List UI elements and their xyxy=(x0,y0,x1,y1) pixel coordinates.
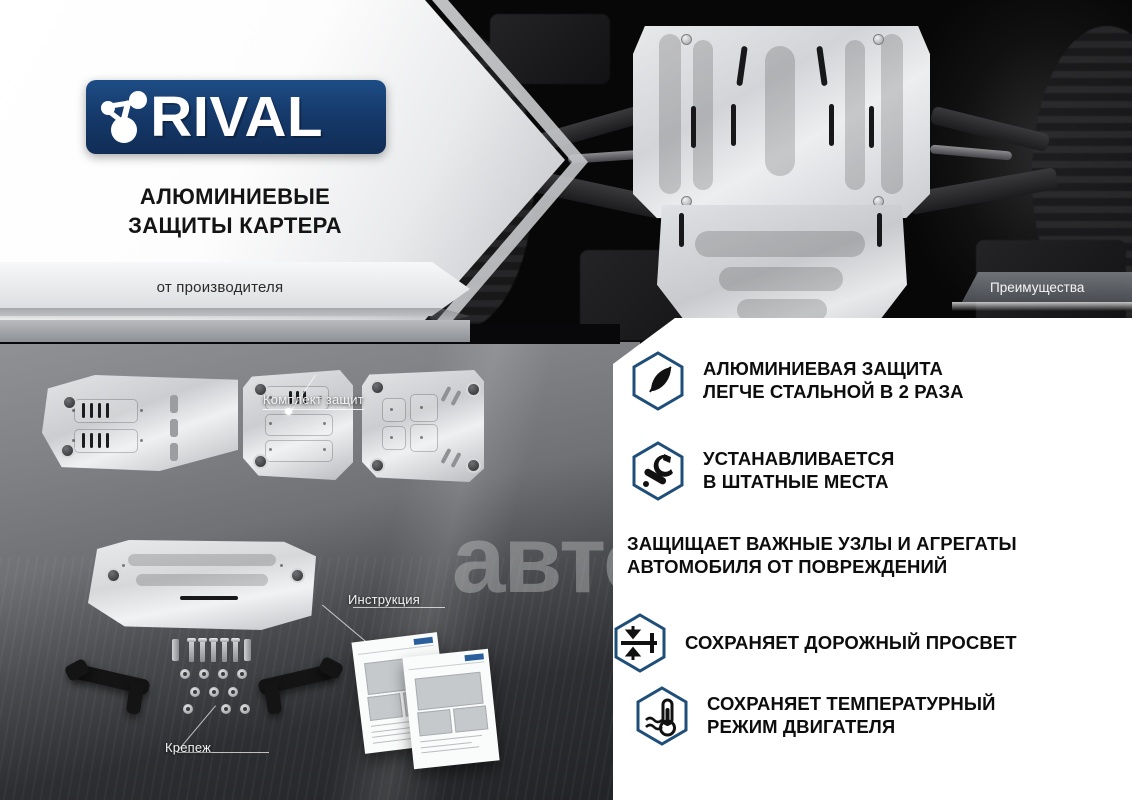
callout-instruction: Инструкция xyxy=(348,592,420,607)
nut xyxy=(190,687,200,697)
bolt xyxy=(200,638,205,662)
thermometer-icon xyxy=(635,686,689,746)
bolt xyxy=(233,638,238,662)
rival-logo-text: RIVAL xyxy=(150,89,323,146)
product-photo xyxy=(0,342,640,800)
callout-underline-instruction xyxy=(353,607,445,608)
advantage-text-2: УСТАНАВЛИВАЕТСЯ В ШТАТНЫЕ МЕСТА xyxy=(703,448,894,493)
bolt xyxy=(189,638,194,662)
washer xyxy=(218,669,228,679)
nut xyxy=(228,687,238,697)
skid-plate-4 xyxy=(88,540,316,630)
tab-advantages[interactable]: Преимущества xyxy=(962,272,1132,302)
nut xyxy=(221,704,231,714)
skid-plate-2 xyxy=(243,370,353,480)
skid-plate-1 xyxy=(42,375,238,471)
hero-subtitle: от производителя xyxy=(0,279,440,296)
leaf-icon xyxy=(631,351,685,411)
advantage-text-5: СОХРАНЯЕТ ТЕМПЕРАТУРНЫЙ РЕЖИМ ДВИГАТЕЛЯ xyxy=(707,693,996,738)
page-title: АЛЮМИНИЕВЫЕ ЗАЩИТЫ КАРТЕРА xyxy=(0,182,470,240)
advantages-panel: АЛЮМИНИЕВАЯ ЗАЩИТА ЛЕГЧЕ СТАЛЬНОЙ В 2 РА… xyxy=(613,318,1132,800)
advantage-item-1[interactable]: АЛЮМИНИЕВАЯ ЗАЩИТА ЛЕГЧЕ СТАЛЬНОЙ В 2 РА… xyxy=(631,351,1111,411)
nut xyxy=(209,687,219,697)
skid-plate-installed-upper xyxy=(633,18,930,218)
page-title-line1: АЛЮМИНИЕВЫЕ xyxy=(0,182,470,211)
spacer-sleeve xyxy=(172,639,179,661)
clearance-icon xyxy=(613,613,667,673)
advantage-item-2[interactable]: УСТАНАВЛИВАЕТСЯ В ШТАТНЫЕ МЕСТА xyxy=(631,441,1111,501)
promo-banner: Преимущества xyxy=(0,0,1132,800)
spacer-sleeve xyxy=(244,639,251,661)
advantage-item-4[interactable]: СОХРАНЯЕТ ДОРОЖНЫЙ ПРОСВЕТ xyxy=(613,613,1113,673)
nut xyxy=(183,704,193,714)
rival-logo[interactable]: RIVAL xyxy=(86,80,386,154)
washer xyxy=(199,669,209,679)
page-title-line2: ЗАЩИТЫ КАРТЕРА xyxy=(0,211,470,240)
advantage-text-3: ЗАЩИЩАЕТ ВАЖНЫЕ УЗЛЫ И АГРЕГАТЫ АВТОМОБИ… xyxy=(627,533,1017,578)
wrench-icon xyxy=(631,441,685,501)
nut xyxy=(240,704,250,714)
skid-plate-3 xyxy=(362,370,484,482)
advantages-list: АЛЮМИНИЕВАЯ ЗАЩИТА ЛЕГЧЕ СТАЛЬНОЙ В 2 РА… xyxy=(613,318,1132,800)
advantage-text-1: АЛЮМИНИЕВАЯ ЗАЩИТА ЛЕГЧЕ СТАЛЬНОЙ В 2 РА… xyxy=(703,358,964,403)
advantage-text-4: СОХРАНЯЕТ ДОРОЖНЫЙ ПРОСВЕТ xyxy=(685,632,1017,655)
bolt xyxy=(211,638,216,662)
callout-fasteners: Крепеж xyxy=(165,740,211,755)
bolt xyxy=(222,638,227,662)
tab-highlight xyxy=(952,302,1132,311)
advantage-item-3[interactable]: ЗАЩИЩАЕТ ВАЖНЫЕ УЗЛЫ И АГРЕГАТЫ АВТОМОБИ… xyxy=(555,526,1125,586)
tie-rod xyxy=(930,144,1012,160)
advantage-item-5[interactable]: СОХРАНЯЕТ ТЕМПЕРАТУРНЫЙ РЕЖИМ ДВИГАТЕЛЯ xyxy=(635,686,1115,746)
washer xyxy=(180,669,190,679)
washer xyxy=(237,669,247,679)
callout-set-of-guards: Комплект защит xyxy=(263,392,364,410)
hero-grey-strip xyxy=(0,320,470,342)
instruction-sheet-front xyxy=(402,649,499,769)
molecule-icon xyxy=(94,86,156,148)
